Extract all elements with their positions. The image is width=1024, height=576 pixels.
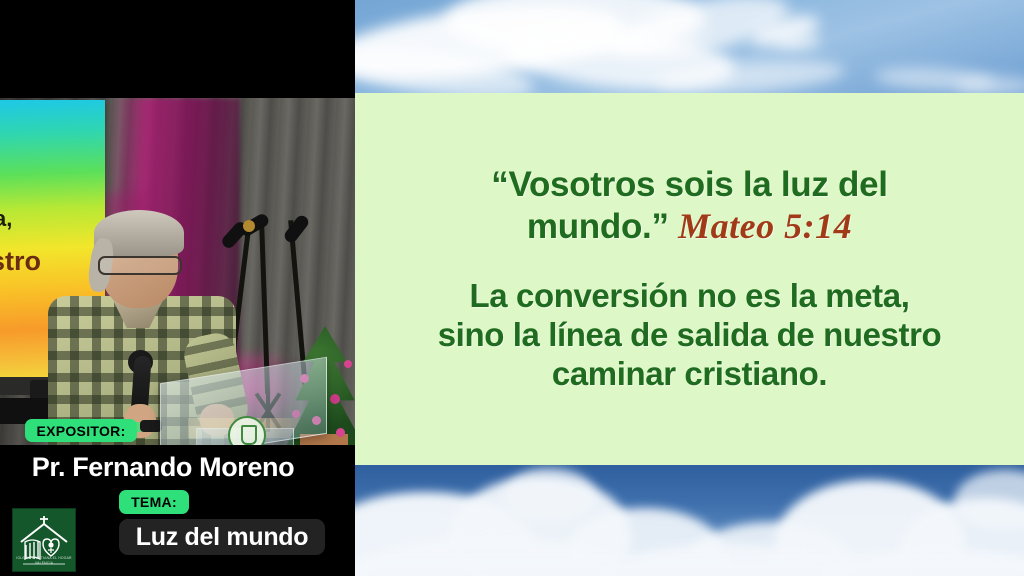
church-logo: IGLESIA CRISTIANA EL HOGAR VALENCIA xyxy=(12,508,76,572)
letterbox-top xyxy=(0,0,355,98)
speaker-name: Pr. Fernando Moreno xyxy=(0,450,326,484)
verse-reference: Mateo 5:14 xyxy=(678,206,852,246)
projection-text-fragment-2: stro xyxy=(0,246,41,277)
verse-line-2: mundo.” xyxy=(527,207,669,246)
projection-text-fragment-1: a, xyxy=(0,206,12,232)
verse-text: “Vosotros sois la luz del mundo.” Mateo … xyxy=(390,164,990,248)
statement-line-1: La conversión no es la meta, xyxy=(470,277,910,314)
tema-badge: TEMA: xyxy=(119,490,189,514)
expositor-badge: EXPOSITOR: xyxy=(25,419,137,442)
statement-line-3: caminar cristiano. xyxy=(552,355,827,392)
topic-pill: Luz del mundo xyxy=(119,519,325,555)
statement-text: La conversión no es la meta, sino la lín… xyxy=(360,277,1020,394)
microphone-windscreen xyxy=(243,220,255,232)
speaker-video-feed: a, stro xyxy=(0,98,355,445)
eyeglasses xyxy=(98,256,182,275)
sky-top-band xyxy=(355,0,1024,96)
logo-microtext: IGLESIA CRISTIANA EL HOGAR VALENCIA xyxy=(13,556,75,566)
sky-bottom-band xyxy=(355,464,1024,576)
livestream-slide: “Vosotros sois la luz del mundo.” Mateo … xyxy=(0,0,1024,576)
scripture-panel: “Vosotros sois la luz del mundo.” Mateo … xyxy=(355,93,1024,465)
logo-microtext-line-1: IGLESIA CRISTIANA EL HOGAR xyxy=(16,556,71,560)
logo-microtext-line-2: VALENCIA xyxy=(35,561,53,565)
statement-line-2: sino la línea de salida de nuestro xyxy=(438,316,942,353)
wristwatch xyxy=(140,420,162,432)
verse-line-1: “Vosotros sois la luz del xyxy=(491,165,887,204)
